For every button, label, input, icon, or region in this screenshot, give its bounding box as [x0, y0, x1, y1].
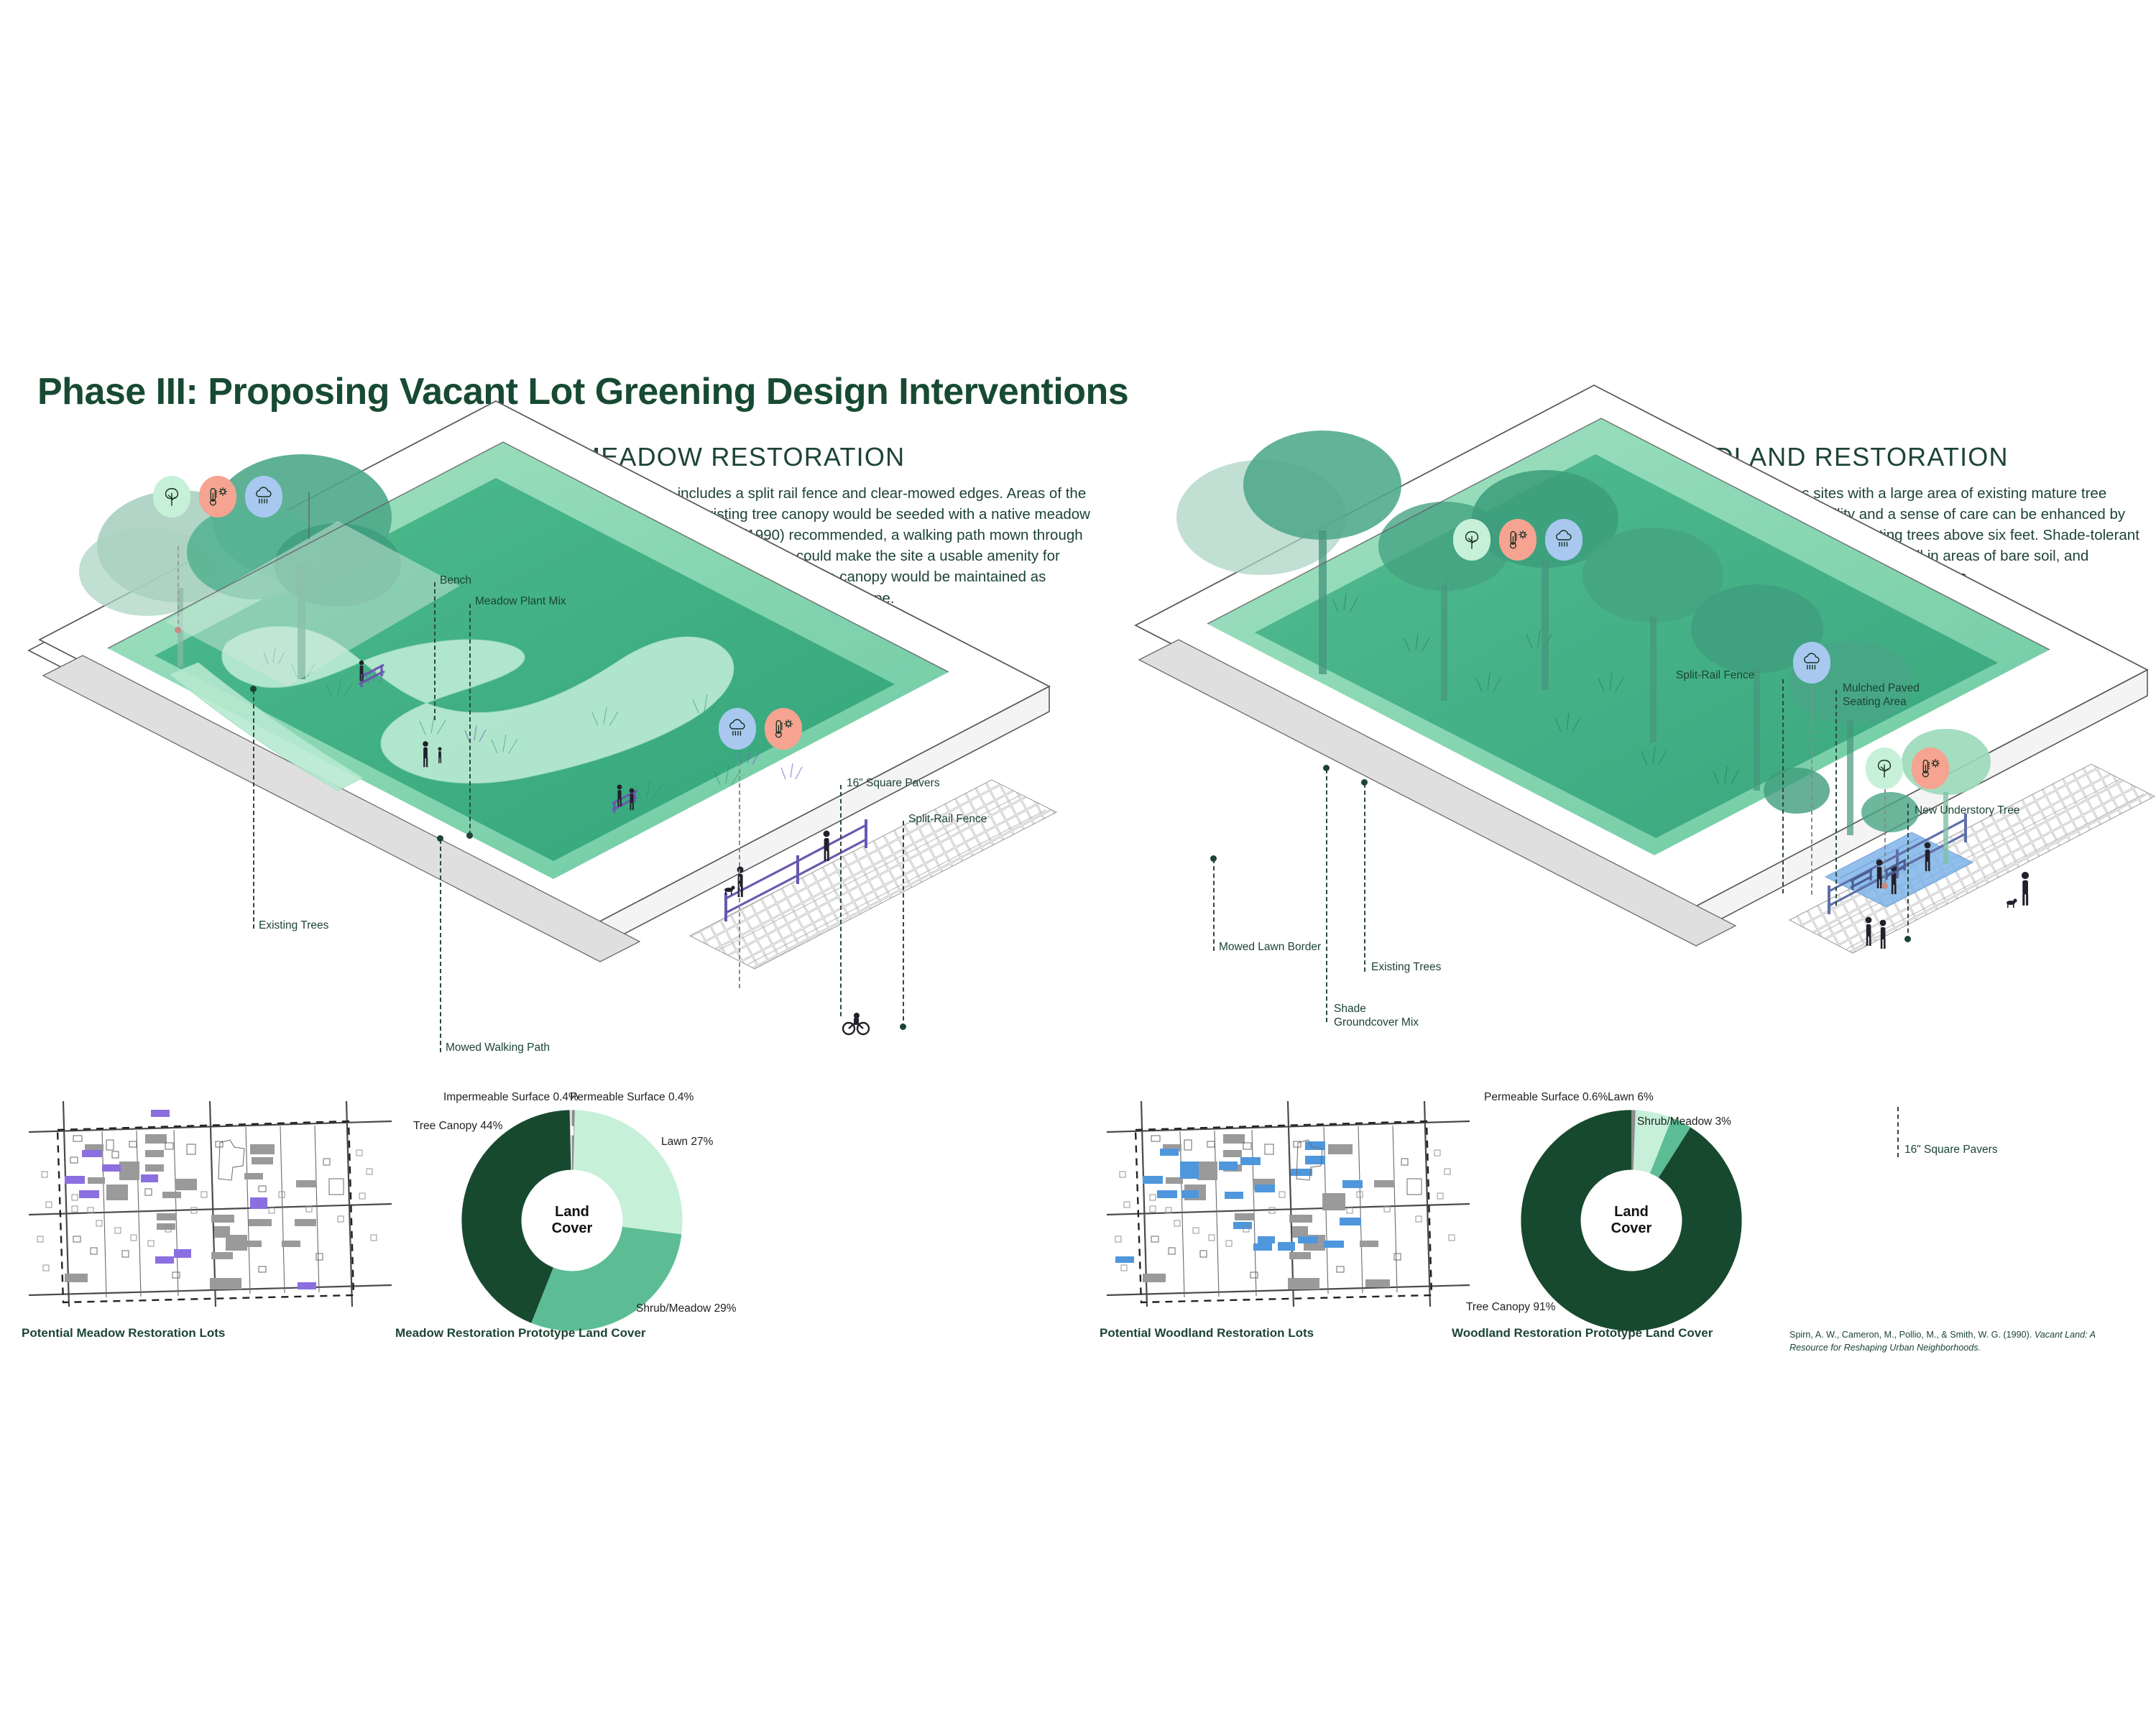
callout-split-rail-fence: Split-Rail Fence	[908, 812, 987, 826]
leader-line-mulched-paved-seating	[1835, 690, 1837, 906]
callout-meadow-plant-mix: Meadow Plant Mix	[475, 594, 566, 608]
leader-dot	[466, 832, 473, 839]
leader-line-existing-trees	[253, 690, 254, 929]
leader-line-woodland-split-rail-fence	[1782, 679, 1784, 893]
meadow-land-cover-donut: LandCover	[457, 1105, 687, 1335]
tree-icon	[1866, 747, 1903, 789]
callout-square-pavers: 16" Square Pavers	[847, 776, 940, 790]
citation-authors: Spirn, A. W., Cameron, M., Pollio, M., &…	[1789, 1330, 2035, 1340]
leader-line-bench	[434, 582, 436, 720]
woodland-map-caption: Potential Woodland Restoration Lots	[1100, 1326, 1314, 1340]
callout-existing-trees: Existing Trees	[259, 919, 328, 932]
slice-label-lawn: Lawn 6%	[1608, 1091, 1654, 1104]
thermometer-sun-icon	[1912, 747, 1949, 789]
woodland-chart-caption: Woodland Restoration Prototype Land Cove…	[1452, 1326, 1713, 1340]
tree-icon	[153, 476, 190, 517]
potential-meadow-lots-map	[22, 1100, 395, 1308]
tree-icon	[1453, 519, 1491, 561]
leader-line-meadow-icons	[178, 546, 179, 631]
slice-label-tree-canopy: Tree Canopy 44%	[413, 1120, 502, 1133]
callout-woodland-existing-trees: Existing Trees	[1371, 960, 1441, 974]
leader-line-woodland-square-pavers	[1897, 1107, 1899, 1157]
leader-dot	[1904, 936, 1911, 942]
slice-label-shrub-meadow: Shrub/Meadow 29%	[636, 1302, 737, 1315]
slice-label-impermeable-surface: Impermeable Surface 0.4%	[443, 1091, 579, 1104]
cloud-rain-icon	[1793, 642, 1830, 684]
leader-line-meadow-mid-icons	[739, 762, 740, 988]
slice-label-tree-canopy: Tree Canopy 91%	[1466, 1301, 1555, 1314]
leader-line-split-rail-fence	[903, 821, 904, 1028]
leader-line-shade-groundcover-mix	[1326, 769, 1327, 1022]
callout-shade-groundcover-mix: ShadeGroundcover Mix	[1334, 1002, 1463, 1030]
meadow-section-heading: MEADOW RESTORATION	[579, 442, 905, 472]
cloud-rain-icon	[1545, 519, 1583, 561]
slice-label-permeable-surface: Permeable Surface 0.4%	[570, 1091, 694, 1104]
thermometer-sun-icon	[199, 476, 236, 517]
leader-dot	[250, 686, 257, 692]
leader-dot	[900, 1023, 906, 1030]
page-title: Phase III: Proposing Vacant Lot Greening…	[37, 370, 1128, 413]
cloud-rain-icon	[245, 476, 282, 517]
leader-line-new-understory-tree	[1907, 804, 1909, 940]
leader-dot	[1323, 765, 1330, 771]
thermometer-sun-icon	[765, 708, 802, 750]
slice-label-permeable-surface: Permeable Surface 0.6%	[1484, 1091, 1608, 1104]
callout-woodland-square-pavers: 16" Square Pavers	[1904, 1143, 1998, 1156]
meadow-map-caption: Potential Meadow Restoration Lots	[22, 1326, 225, 1340]
callout-mulched-paved-seating: Mulched PavedSeating Area	[1843, 681, 1986, 709]
meadow-chart-caption: Meadow Restoration Prototype Land Cover	[395, 1326, 646, 1340]
donut-center-label: LandCover	[1516, 1204, 1746, 1237]
callout-woodland-split-rail-fence: Split-Rail Fence	[1676, 668, 1754, 682]
callout-mowed-lawn-border: Mowed Lawn Border	[1219, 940, 1321, 954]
woodland-isometric-diagram	[1107, 474, 2156, 1121]
leader-line-woodland-right-icons	[1884, 789, 1886, 884]
donut-center-label: LandCover	[457, 1204, 687, 1237]
thermometer-sun-icon	[1499, 519, 1537, 561]
slice-label-shrub-meadow: Shrub/Meadow 3%	[1637, 1115, 1731, 1128]
callout-new-understory-tree: New Understory Tree	[1915, 804, 2019, 817]
leader-dot	[1881, 883, 1888, 889]
cloud-rain-icon	[719, 708, 756, 750]
leader-dot	[437, 835, 443, 842]
slice-label-lawn: Lawn 27%	[661, 1136, 713, 1149]
leader-line-woodland-existing-trees	[1364, 783, 1365, 972]
leader-dot	[1210, 855, 1217, 862]
leader-line-woodland-mid-icon	[1811, 686, 1812, 895]
leader-line-square-pavers	[840, 785, 842, 1016]
leader-dot	[175, 627, 181, 633]
leader-line-mowed-lawn-border	[1213, 859, 1215, 951]
callout-mowed-walking-path: Mowed Walking Path	[446, 1041, 550, 1054]
callout-bench: Bench	[440, 574, 471, 587]
leader-line-mowed-walking-path	[440, 839, 441, 1052]
leader-line-meadow-plant-mix	[469, 604, 471, 835]
potential-woodland-lots-map	[1100, 1100, 1473, 1308]
leader-dot	[1361, 779, 1368, 786]
citation: Spirn, A. W., Cameron, M., Pollio, M., &…	[1789, 1328, 2127, 1355]
